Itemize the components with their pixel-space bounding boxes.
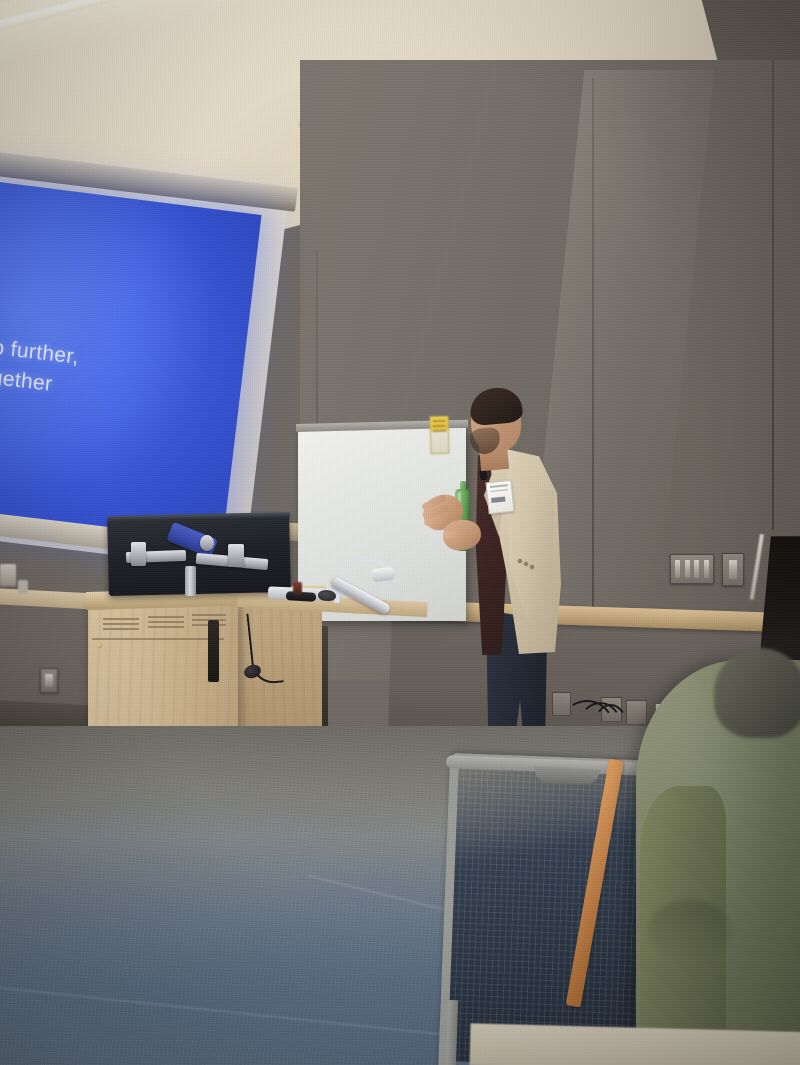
dimmer-switch-plate[interactable] [722, 553, 744, 586]
conference-room-photo: Go further, together [0, 0, 800, 1065]
left-wall-outlet-plate[interactable] [40, 668, 58, 693]
sleeve-button [530, 565, 534, 569]
monitor-arm-joint-left[interactable] [131, 542, 146, 566]
sleeve-button [524, 562, 528, 566]
counter-object-small [18, 580, 28, 594]
presenter-name-badge [485, 480, 514, 515]
sleeve-button [518, 559, 522, 563]
document-camera-head[interactable] [371, 567, 394, 582]
monitor-arm-post [185, 566, 196, 596]
sweater-fold-shadow [648, 900, 732, 960]
monitor-arm-joint-right[interactable] [228, 544, 244, 567]
podium-vent-center [148, 616, 184, 630]
podium-edge-strip [208, 620, 219, 682]
light-switch[interactable] [685, 560, 690, 577]
left-wall-outlet[interactable] [45, 674, 53, 688]
podium-lock-left[interactable] [97, 643, 102, 648]
wall-panel-seam [772, 60, 774, 530]
foreground-person-head [714, 648, 800, 738]
light-switch-plate-4gang[interactable] [670, 554, 714, 584]
wall-data-jack-plate[interactable] [626, 700, 647, 725]
wall-notice-sign [429, 416, 449, 455]
desk-marker [293, 582, 302, 594]
slide-text-block: Go further, together [0, 331, 80, 403]
light-switch[interactable] [704, 560, 709, 577]
dimmer-switch[interactable] [729, 560, 737, 579]
light-switch[interactable] [694, 560, 699, 577]
projection-screen-surface: Go further, together [0, 176, 262, 553]
podium-door-seam-top [92, 638, 224, 640]
light-switch[interactable] [675, 560, 680, 577]
podium-vent-left [103, 618, 139, 632]
computer-mouse[interactable] [318, 589, 337, 601]
monitor-arm-hinge[interactable] [200, 535, 214, 551]
wall-panel-seam [592, 78, 594, 638]
counter-object [0, 564, 16, 586]
wall-panel-seam [316, 250, 318, 440]
